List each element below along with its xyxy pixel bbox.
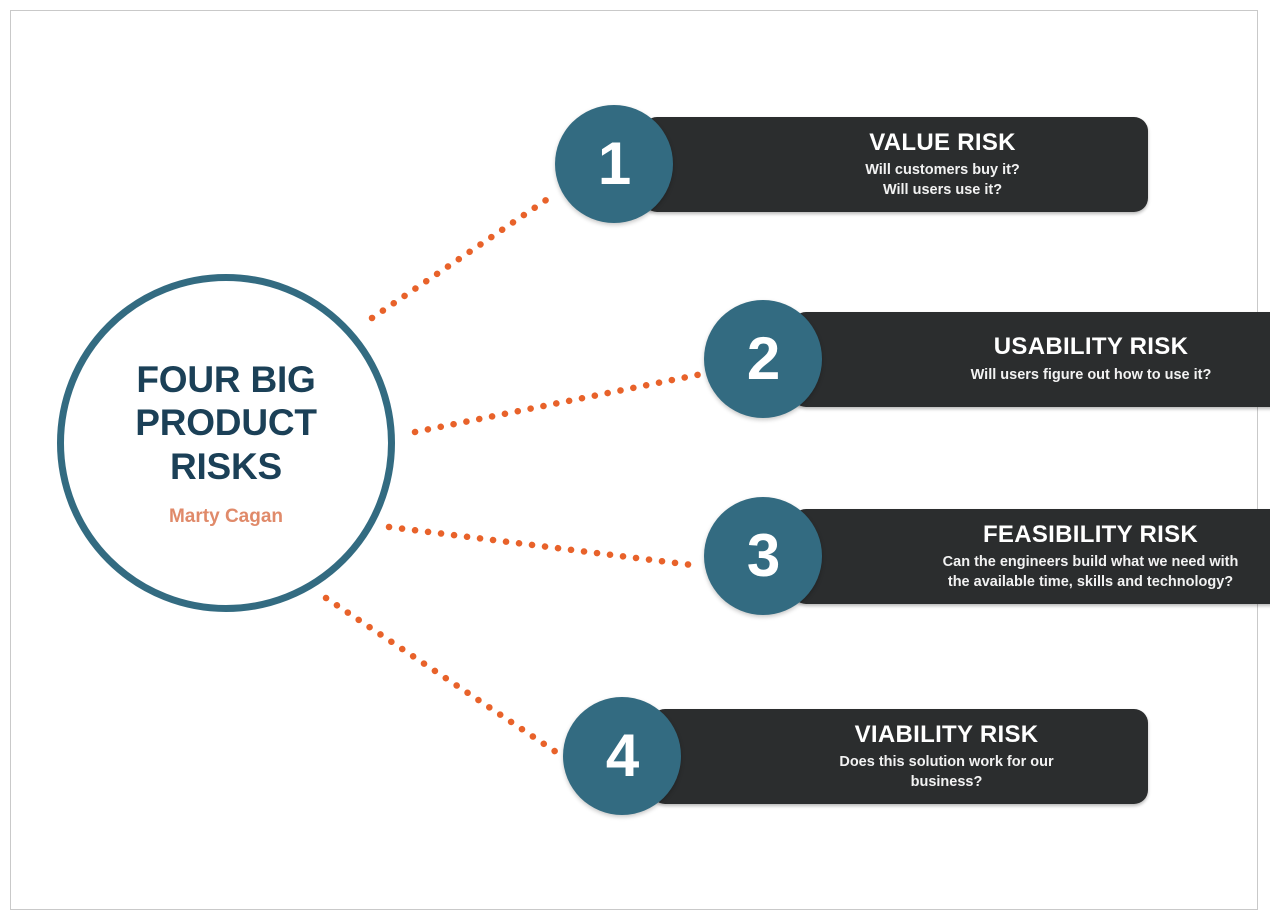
hub-title: FOUR BIG PRODUCT RISKS bbox=[135, 358, 317, 488]
risk-badge-1: 1 bbox=[555, 105, 673, 223]
risk-title-3: FEASIBILITY RISK bbox=[983, 521, 1198, 549]
risk-description-4: Does this solution work for our business… bbox=[839, 753, 1053, 792]
risk-title-4: VIABILITY RISK bbox=[855, 721, 1039, 749]
central-hub: FOUR BIG PRODUCT RISKS Marty Cagan bbox=[57, 274, 395, 612]
risk-description-1: Will customers buy it? Will users use it… bbox=[865, 161, 1020, 200]
risk-card-2[interactable]: USABILITY RISK Will users figure out how… bbox=[792, 312, 1270, 407]
risk-description-3: Can the engineers build what we need wit… bbox=[943, 553, 1239, 592]
risk-title-1: VALUE RISK bbox=[869, 129, 1016, 157]
risk-badge-2: 2 bbox=[704, 300, 822, 418]
risk-number-4: 4 bbox=[606, 726, 638, 786]
risk-description-2: Will users figure out how to use it? bbox=[971, 366, 1212, 386]
risk-card-3[interactable]: FEASIBILITY RISK Can the engineers build… bbox=[792, 509, 1270, 604]
risk-badge-3: 3 bbox=[704, 497, 822, 615]
risk-card-1[interactable]: VALUE RISK Will customers buy it? Will u… bbox=[643, 117, 1148, 212]
infographic-canvas: FOUR BIG PRODUCT RISKS Marty Cagan VALUE… bbox=[0, 0, 1270, 924]
risk-badge-4: 4 bbox=[563, 697, 681, 815]
risk-number-2: 2 bbox=[747, 329, 779, 389]
risk-number-1: 1 bbox=[598, 134, 630, 194]
risk-title-2: USABILITY RISK bbox=[994, 333, 1188, 361]
risk-card-4[interactable]: VIABILITY RISK Does this solution work f… bbox=[651, 709, 1148, 804]
risk-number-3: 3 bbox=[747, 526, 779, 586]
hub-subtitle: Marty Cagan bbox=[169, 506, 283, 528]
